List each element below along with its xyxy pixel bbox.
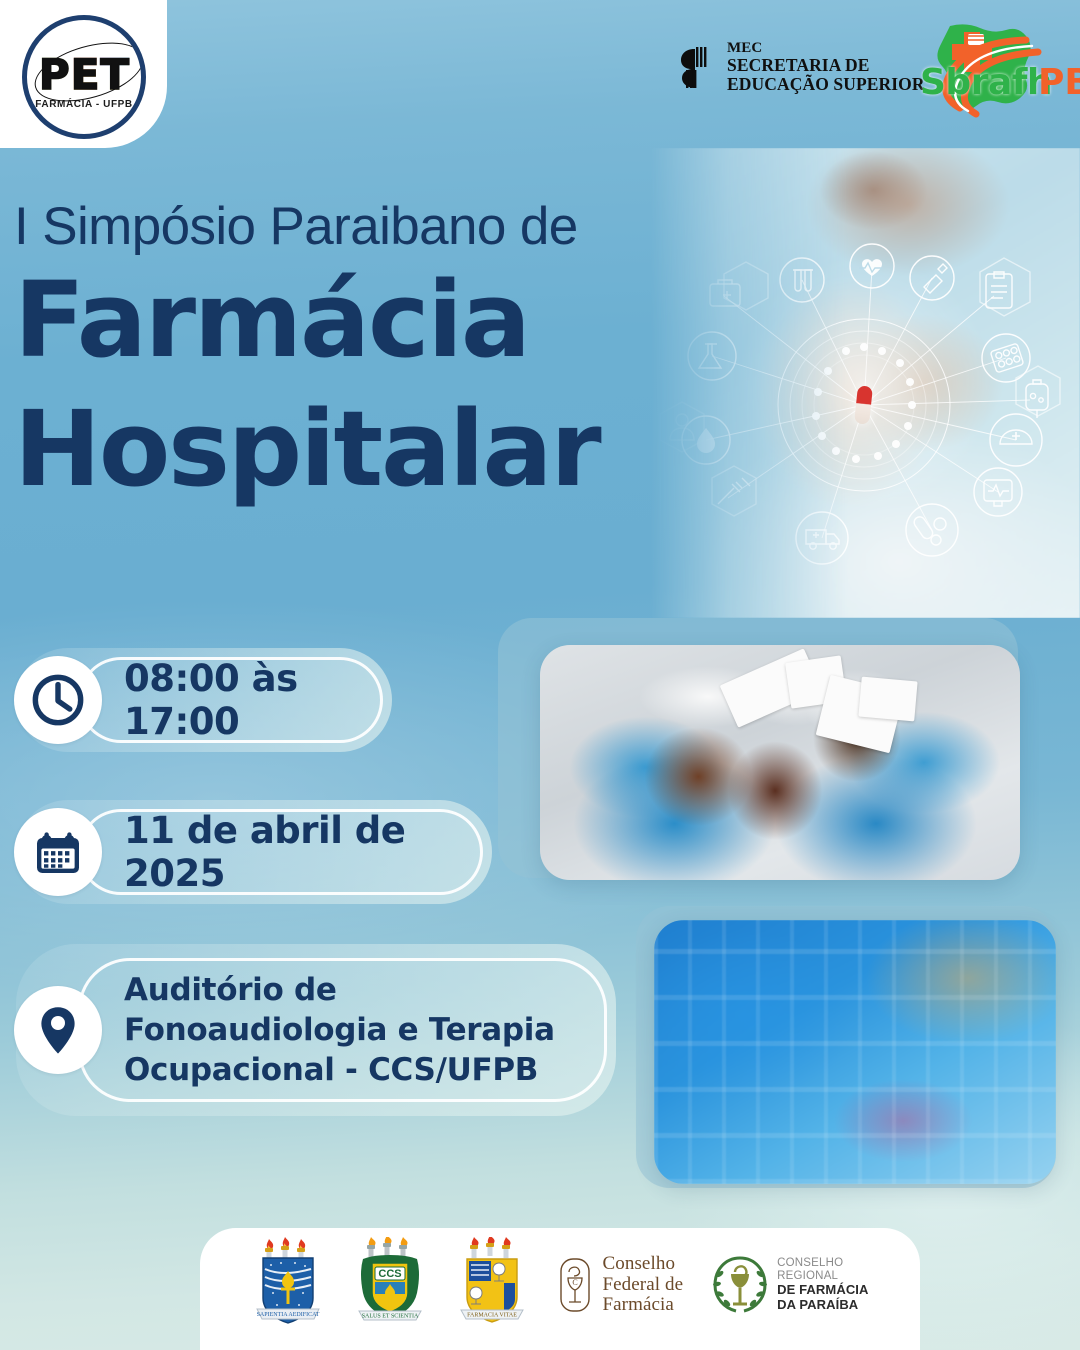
pet-farmacia-ufpb-logo: P E T FARMÁCIA - UFPB [22, 15, 146, 139]
conselho-federal-farmacia-logo: C Conselho Federal de Farmácia [557, 1254, 683, 1317]
sbrafh-wordmark: Sbrafh [920, 62, 1052, 103]
cff-line-1: Conselho [602, 1254, 683, 1275]
pet-letters: P E T [39, 48, 129, 94]
info-pill-date: 11 de abril de 2025 [16, 800, 492, 904]
calendar-icon [14, 808, 102, 896]
cff-text: Conselho Federal de Farmácia [602, 1254, 683, 1317]
farmacia-motto: FARMACIA VITAE [468, 1313, 518, 1319]
crf-line-1: CONSELHO [777, 1257, 868, 1270]
time-value: 08:00 às 17:00 [102, 657, 392, 743]
ccs-label: CCS [379, 1268, 402, 1280]
ufpb-motto: SAPIENTIA AEDIFICAT [257, 1312, 320, 1318]
svg-text:C: C [573, 1278, 578, 1287]
ccs-crest: CCS SALUS ET SCIENTIA [353, 1237, 427, 1333]
title-line-3: Hospitalar [14, 384, 600, 515]
laurel-serpent-icon [711, 1254, 769, 1316]
ufpb-crest: SAPIENTIA AEDIFICAT [251, 1237, 325, 1333]
robotic-arm-syringe-photo [654, 920, 1056, 1184]
pet-letter-t: T [100, 56, 129, 94]
bowl-of-hygieia-icon: C [557, 1256, 593, 1314]
clock-icon [14, 656, 102, 744]
crf-text: CONSELHO REGIONAL DE FARMÁCIA DA PARAÍBA [777, 1257, 868, 1313]
mec-line-1: MEC [727, 40, 925, 56]
ccs-motto: SALUS ET SCIENTIA [362, 1314, 419, 1320]
pet-logo-panel: P E T FARMÁCIA - UFPB [0, 0, 167, 148]
sbrafh-pb-logo: Sbrafh PB [898, 18, 1080, 130]
mec-line-3: EDUCAÇÃO SUPERIOR [727, 75, 925, 94]
title-line-2: Farmácia [14, 255, 600, 386]
pet-subtitle: FARMÁCIA - UFPB [35, 99, 133, 110]
footer-logo-bar: SAPIENTIA AEDIFICAT CCS SALUS ET SCIENTI… [200, 1228, 920, 1350]
info-pill-time: 08:00 às 17:00 [16, 648, 392, 752]
title-line-1: I Simpósio Paraibano de [14, 196, 600, 257]
cff-line-2: Federal de [602, 1275, 683, 1296]
vial-label [858, 677, 917, 722]
mec-text: MEC SECRETARIA DE EDUCAÇÃO SUPERIOR [727, 40, 925, 93]
farmacia-crest: FARMACIA VITAE [455, 1237, 529, 1333]
pet-letter-p: P [39, 56, 70, 94]
cff-line-3: Farmácia [602, 1295, 683, 1316]
medical-icon-network [650, 148, 1080, 618]
sbrafh-pb-suffix: PB [1038, 62, 1080, 103]
doctor-capsule-network-photo [650, 148, 1080, 618]
date-value: 11 de abril de 2025 [102, 809, 492, 895]
crf-line-3: DE FARMÁCIA [777, 1283, 868, 1298]
conselho-regional-farmacia-pb-logo: CONSELHO REGIONAL DE FARMÁCIA DA PARAÍBA [711, 1254, 868, 1316]
gloved-hands-vials-photo [540, 645, 1020, 880]
crf-line-4: DA PARAÍBA [777, 1298, 868, 1313]
robot-photo-base [654, 920, 1056, 1184]
page-title: I Simpósio Paraibano de Farmácia Hospita… [14, 196, 600, 515]
mec-mark-icon [678, 43, 718, 91]
info-pill-location: Auditório de Fonoaudiologia e Terapia Oc… [16, 944, 616, 1116]
event-poster: P E T FARMÁCIA - UFPB MEC SECRETARI [0, 0, 1080, 1350]
mec-logo: MEC SECRETARIA DE EDUCAÇÃO SUPERIOR [678, 40, 925, 93]
location-value: Auditório de Fonoaudiologia e Terapia Oc… [102, 970, 577, 1091]
mec-line-2: SECRETARIA DE [727, 56, 925, 75]
pet-letter-e: E [71, 56, 100, 94]
map-pin-icon [14, 986, 102, 1074]
